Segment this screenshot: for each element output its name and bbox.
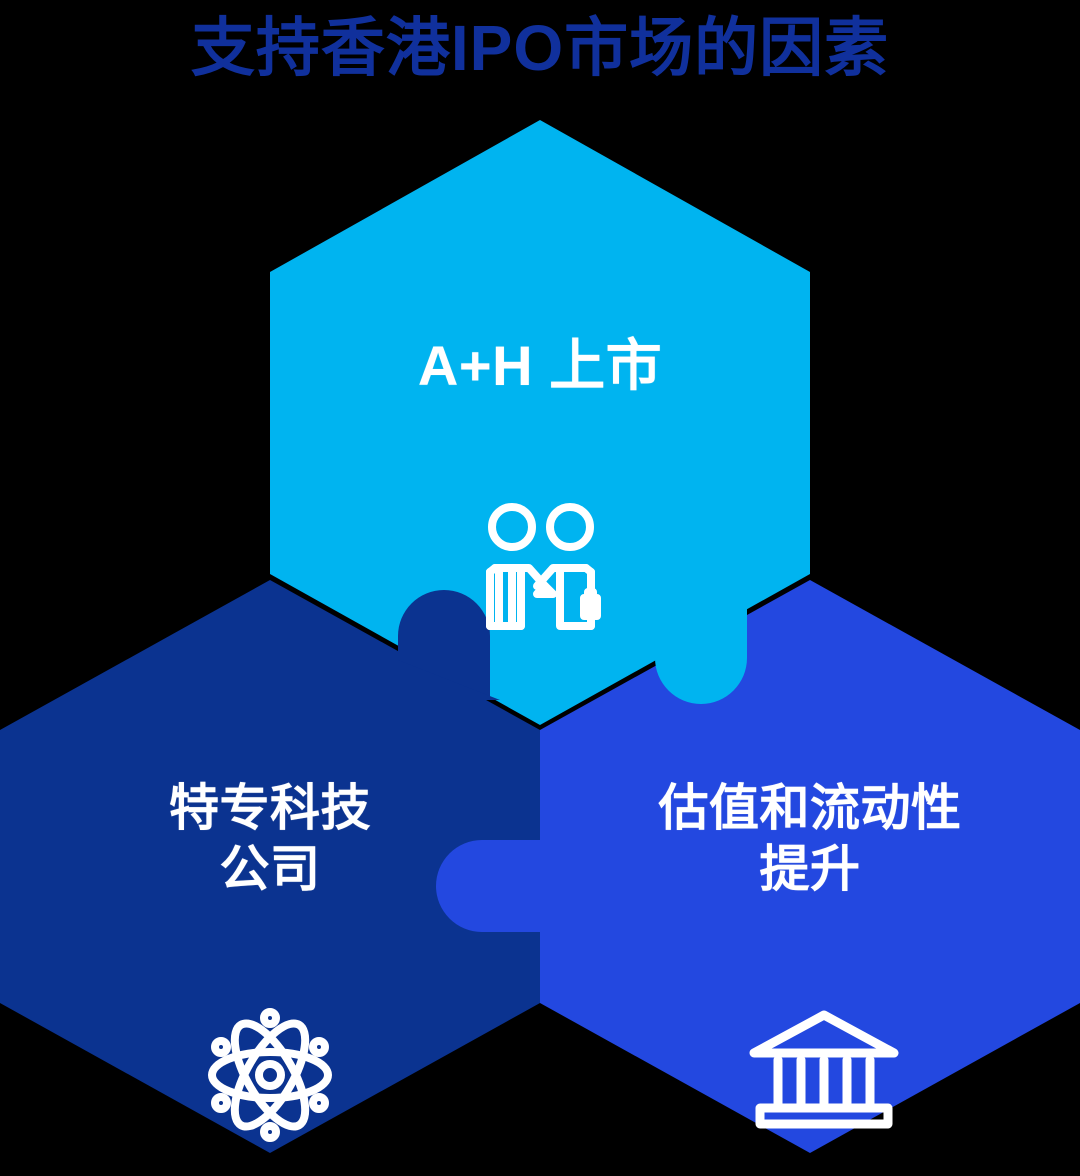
hexagon-puzzle-diagram [0, 0, 1080, 1176]
infographic-canvas: 支持香港IPO市场的因素 A+H 上市 特专科技 公司 估值和流动性 提升 [0, 0, 1080, 1176]
puzzle-tab-right-to-left [436, 840, 540, 932]
page-title: 支持香港IPO市场的因素 [0, 16, 1080, 80]
